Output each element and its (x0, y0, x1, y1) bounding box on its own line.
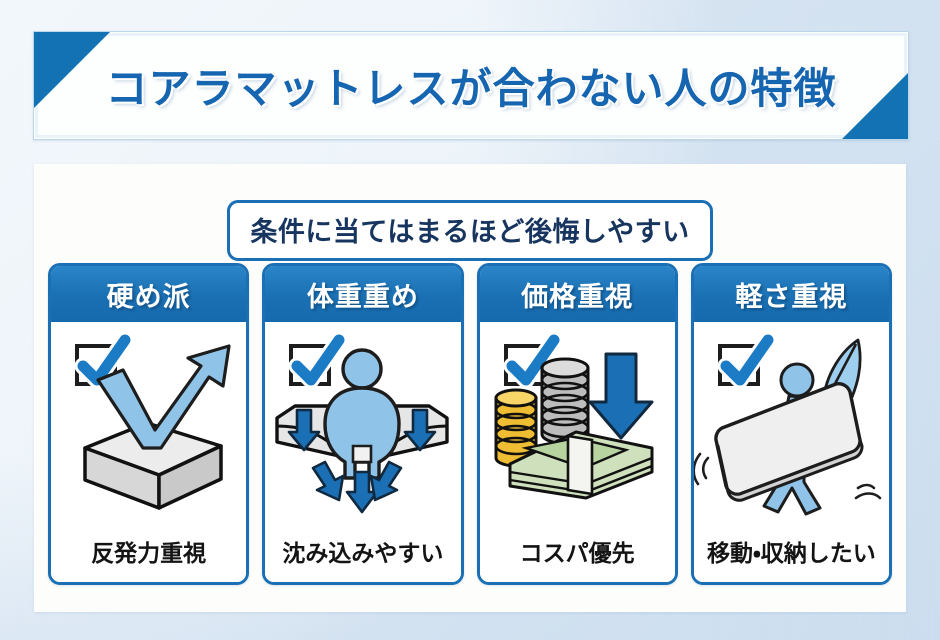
card-caption: 反発力重視 (51, 534, 246, 568)
card-row: 硬め派 (48, 263, 892, 585)
coins-and-cash-with-down-arrow-icon (480, 322, 674, 522)
card-price[interactable]: 価格重視 (477, 263, 678, 585)
card-header: 硬め派 (51, 266, 246, 322)
silver-coin-stack (542, 359, 588, 443)
card-body: 反発力重視 (51, 322, 246, 582)
card-lightweight[interactable]: 軽さ重視 (691, 263, 892, 585)
card-caption: 移動・収納したい (694, 534, 889, 568)
card-header-label: 価格重視 (521, 275, 633, 314)
card-header: 価格重視 (480, 266, 675, 322)
card-body: コスパ優先 (480, 322, 675, 582)
card-header-label: 軽さ重視 (735, 275, 847, 314)
main-panel: 条件に当てはまるほど後悔しやすい 硬め派 (34, 164, 906, 612)
checked-checkbox-icon (291, 340, 339, 384)
checked-checkbox-icon (720, 340, 768, 384)
mattress-carried (716, 384, 862, 501)
card-header: 体重重め (265, 266, 460, 322)
card-caption: 沈み込みやすい (265, 534, 460, 568)
heavy-person-sinking-into-mattress-icon (265, 322, 459, 522)
person-carrying-mattress-with-feather-icon (694, 322, 888, 522)
card-body: 移動・収納したい (694, 322, 889, 582)
subtitle-pill: 条件に当てはまるほど後悔しやすい (227, 200, 712, 261)
card-header-label: 体重重め (307, 275, 419, 314)
card-header-label: 硬め派 (107, 275, 191, 314)
page-title: コアラマットレスが合わない人の特徴 (34, 32, 908, 139)
card-caption: コスパ優先 (480, 534, 675, 568)
subtitle-row: 条件に当てはまるほど後悔しやすい (34, 200, 906, 261)
card-hardness[interactable]: 硬め派 (48, 263, 249, 585)
card-body: 沈み込みやすい (265, 322, 460, 582)
card-header: 軽さ重視 (694, 266, 889, 322)
down-arrow-icon (590, 354, 652, 438)
bounce-arrow-on-mattress-icon (51, 322, 245, 522)
card-bodyweight[interactable]: 体重重め (262, 263, 463, 585)
title-banner: コアラマットレスが合わない人の特徴 (33, 31, 909, 140)
